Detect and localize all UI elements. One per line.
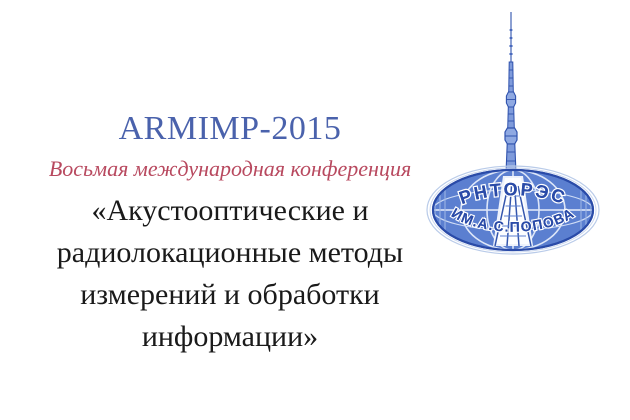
theme-line-2: радиолокационные методы — [0, 232, 460, 274]
conference-text-block: ARMIMP-2015 Восьмая международная конфер… — [0, 0, 460, 420]
conference-acronym: ARMIMP-2015 — [0, 110, 460, 148]
globe-icon — [427, 166, 599, 254]
theme-line-1: «Акустооптические и — [0, 190, 460, 232]
conference-poster: ARMIMP-2015 Восьмая международная конфер… — [0, 0, 630, 420]
theme-line-3: измерений и обработки — [0, 274, 460, 316]
conference-subtitle: Восьмая международная конференция — [0, 156, 460, 182]
conference-theme: «Акустооптические и радиолокационные мет… — [0, 190, 460, 358]
rntores-popov-logo: РНТОРЭС РНТОРЭС ИМ.А.С.ПОПОВА ИМ.А.С.ПОП… — [425, 0, 630, 265]
theme-line-4: информации» — [0, 316, 460, 358]
